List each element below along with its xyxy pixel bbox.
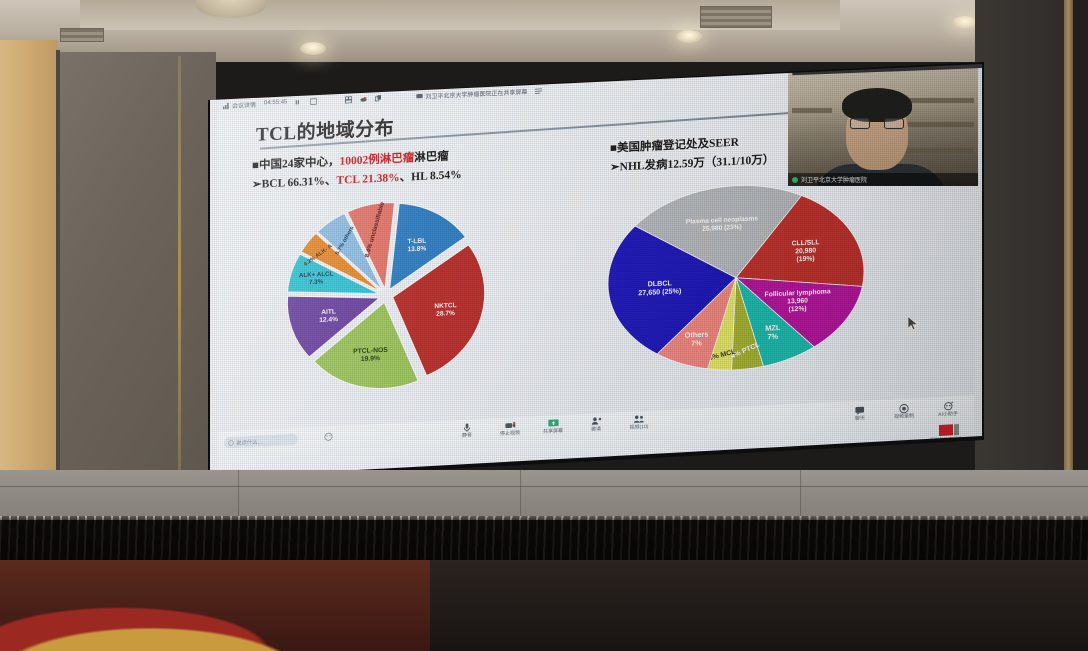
ceiling-air-vent (60, 28, 104, 42)
ceiling-air-vent (700, 6, 772, 28)
stage-panel-seam (800, 470, 801, 520)
microphone-icon (462, 422, 472, 432)
participants-icon (633, 414, 645, 425)
layout-grid-icon[interactable] (345, 96, 352, 103)
pie-label-line: 7% (767, 332, 778, 342)
ceiling-spotlight (676, 30, 702, 43)
chat-bubble-icon (228, 439, 234, 445)
left-bullet-1-suffix: 淋巴瘤 (414, 151, 449, 165)
pie-label-line: 7.3% (309, 278, 324, 286)
pie-slice-label: NKTCL28.7% (434, 302, 456, 318)
sharing-notice-text: 刘卫平北京大学肿瘤医院正在共享屏幕 (425, 86, 527, 100)
mouse-cursor-icon (908, 316, 919, 331)
speaker-glasses (850, 118, 904, 129)
pie-label-line: (12%) (789, 306, 807, 314)
meeting-details-label: 会议详情 (232, 99, 256, 109)
background-shelf (900, 122, 974, 127)
pie-slice-label: T-LBL13.8% (408, 238, 427, 254)
stop-video-button[interactable]: 停止视频 (496, 420, 524, 437)
pie-label-line: (19%) (797, 255, 815, 263)
expand-icon[interactable] (310, 97, 317, 104)
ai-assistant-label: AI小助手 (938, 412, 958, 418)
carpet-shadow-area (430, 560, 1088, 651)
watermark-logo-mark (939, 424, 953, 436)
pie-label-line: 13.8% (408, 245, 427, 253)
copy-icon[interactable] (375, 94, 382, 101)
share-screen-icon (548, 418, 559, 429)
left-bullet-2-b: 、HL 8.54% (400, 169, 462, 184)
glasses-lens-left (850, 118, 870, 129)
left-wood-wall-panel (0, 40, 58, 510)
conference-room-scene: 会议详情 04:55:45 刘卫平北京大学肿瘤医院正在共享屏幕 (0, 0, 1088, 651)
stage-seam (0, 486, 1088, 487)
pie-label-line: 7% (691, 338, 702, 348)
record-label: 视频录制 (894, 414, 914, 420)
pie-label-line: AITL (321, 308, 336, 316)
more-options-icon[interactable] (535, 87, 542, 94)
ceiling-spotlight (300, 42, 326, 55)
pie-slice-label: AITL12.4% (319, 308, 338, 324)
stage-panel-seam (520, 470, 521, 520)
share-screen-icon (416, 92, 423, 99)
chat-input-placeholder: 说点什么... (236, 437, 262, 446)
background-shelf (904, 148, 974, 153)
invite-label: 邀请 (591, 427, 601, 432)
pie-label-line: CLL/SLL (792, 239, 820, 247)
led-screen-surface: 会议详情 04:55:45 刘卫平北京大学肿瘤医院正在共享屏幕 (210, 62, 982, 482)
dark-wall-panel (56, 52, 216, 512)
speaker-hair (842, 88, 912, 122)
left-bullet-2-highlight: TCL 21.38% (336, 172, 399, 187)
pie-label-line: T-LBL (408, 238, 427, 246)
share-screen-label: 共享屏幕 (543, 429, 563, 435)
share-screen-button[interactable]: 共享屏幕 (539, 418, 567, 435)
pie-label-line: 28.7% (436, 310, 455, 318)
stage-panel-seam (238, 470, 239, 520)
invite-person-icon (591, 416, 602, 427)
signal-bars-icon (223, 102, 230, 109)
chat-label: 聊天 (855, 417, 865, 422)
camera-icon (505, 420, 516, 431)
chat-button[interactable]: 聊天 (846, 405, 874, 422)
led-video-wall: 会议详情 04:55:45 刘卫平北京大学肿瘤医院正在共享屏幕 (206, 62, 986, 482)
pip-name-bar: 刘卫平北京大学肿瘤医院 (788, 173, 978, 186)
meeting-details-button[interactable]: 会议详情 (223, 99, 256, 110)
stop-video-label: 停止视频 (500, 431, 520, 437)
chat-bubble-icon (855, 406, 866, 417)
participants-button[interactable]: 视频(10) (625, 414, 653, 431)
record-icon[interactable] (295, 98, 302, 105)
mute-button[interactable]: 静音 (453, 422, 481, 439)
right-wall-trim (1064, 0, 1073, 470)
pie-label-line: 13,960 (787, 297, 808, 305)
left-bullet-1-highlight: 10002例淋巴瘤 (339, 152, 414, 168)
mute-label: 静音 (462, 433, 472, 438)
right-pie-svg: DLBCL27,650 (25%)Plasma cell neoplasms25… (568, 166, 908, 397)
cloud-icon[interactable] (360, 95, 367, 102)
left-pie-svg: T-LBL13.8%NKTCL28.7%PTCL-NOS19.9%AITL12.… (236, 186, 546, 411)
pie-label-line: 20,980 (795, 247, 816, 255)
background-shelf (792, 108, 832, 113)
sharing-status: 刘卫平北京大学肿瘤医院正在共享屏幕 (416, 86, 527, 100)
speaker-video-pip[interactable]: 刘卫平北京大学肿瘤医院 (788, 68, 978, 186)
meeting-timer: 04:55:45 (264, 99, 287, 106)
pie-label-line: NKTCL (434, 302, 456, 310)
participants-label: 视频(10) (630, 425, 649, 431)
left-bullet-2-a: ➢BCL 66.31%、 (252, 175, 336, 191)
invite-button[interactable]: 邀请 (582, 416, 610, 433)
apps-button[interactable]: 应用 (978, 399, 982, 416)
wall-divider (56, 50, 60, 512)
emoji-icon[interactable] (324, 432, 333, 441)
wall-seam-light-strip (178, 56, 181, 506)
microphone-icon (798, 64, 805, 71)
toolbar-secondary-actions[interactable]: 聊天 视频录制 AI小助手 应用 (846, 399, 982, 423)
left-pie-chart: T-LBL13.8%NKTCL28.7%PTCL-NOS19.9%AITL12.… (236, 186, 546, 411)
right-pie-chart: DLBCL27,650 (25%)Plasma cell neoplasms25… (568, 166, 908, 397)
left-bullet-1-pre: ■中国24家中心， (252, 156, 339, 172)
pip-participant-name: 刘卫平北京大学肿瘤医院 (801, 175, 867, 184)
record-circle-icon (899, 403, 909, 413)
pie-label-line: 19.9% (361, 355, 380, 363)
ai-assistant-icon (943, 401, 954, 412)
pie-label-line: 12.4% (319, 316, 338, 324)
mic-active-indicator (792, 177, 798, 183)
glasses-lens-right (884, 118, 904, 129)
record-button[interactable]: 视频录制 (890, 403, 918, 420)
ai-assistant-button[interactable]: AI小助手 (934, 401, 962, 418)
chat-input[interactable]: 说点什么... (224, 434, 298, 449)
